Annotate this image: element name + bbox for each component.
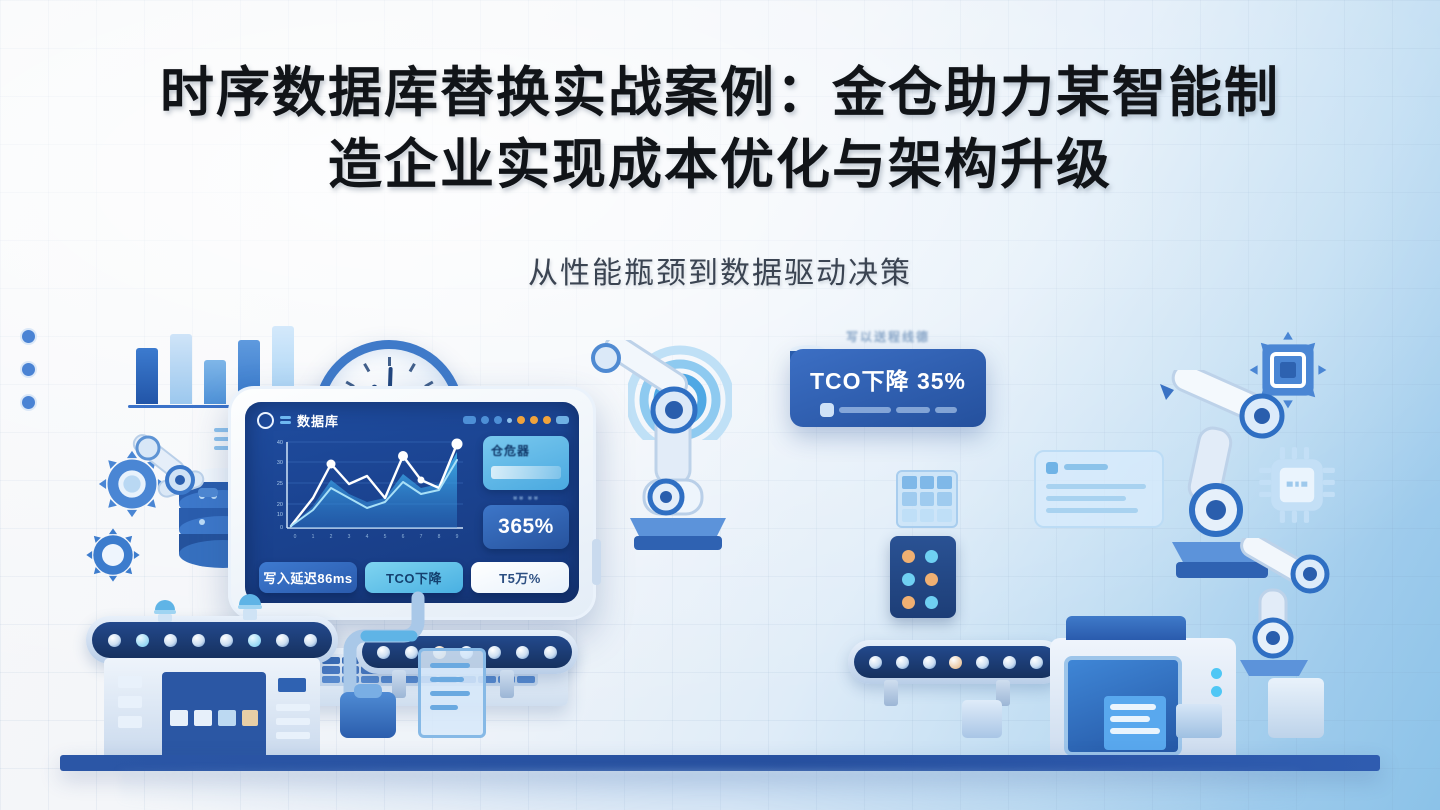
svg-text:3: 3	[348, 534, 351, 540]
grid-panel-icon	[896, 470, 958, 528]
valve-icon	[340, 692, 396, 738]
svg-text:7: 7	[420, 534, 423, 540]
svg-text:5: 5	[384, 534, 387, 540]
svg-text:9: 9	[456, 534, 459, 540]
worker-icon	[236, 588, 264, 620]
indicator-panel	[890, 536, 956, 618]
side-card-title: 仓危器	[491, 442, 561, 459]
callout-ghost-label: 写以送程线德	[790, 328, 986, 345]
tco-callout: 写以送程线德 TCO下降 35%	[790, 328, 986, 427]
svg-text:20: 20	[277, 502, 283, 508]
dashboard-monitor[interactable]: 数据库	[228, 386, 596, 620]
svg-text:25: 25	[277, 481, 283, 487]
percent-card: 365%	[483, 505, 569, 549]
factory-building-icon	[104, 658, 320, 762]
conveyor-belt-icon	[848, 640, 1064, 684]
crate-icon	[1176, 704, 1222, 738]
crate-icon	[962, 700, 1002, 738]
side-card-sub	[491, 466, 561, 479]
metric-button-savings[interactable]: T5万%	[471, 562, 569, 593]
slide-root: 时序数据库替换实战案例：金仓助力某智能制 造企业实现成本优化与架构升级 从性能瓶…	[0, 0, 1440, 810]
svg-text:40: 40	[277, 440, 283, 446]
page-subtitle: 从性能瓶颈到数据驱动决策	[0, 248, 1440, 292]
hero-illustration: 数据库	[0, 300, 1440, 810]
svg-text:30: 30	[277, 460, 283, 466]
svg-text:2: 2	[330, 534, 333, 540]
robot-arm-icon	[590, 340, 770, 550]
conveyor-leg	[884, 680, 898, 706]
floor-strip	[60, 755, 1380, 771]
floor-glow	[120, 770, 1300, 810]
server-rack-icon	[1050, 638, 1236, 766]
svg-text:4: 4	[366, 534, 369, 540]
dashboard-screen: 数据库	[245, 402, 579, 603]
screen-side-cards: 仓危器 ※※ ※※ 365%	[483, 436, 569, 549]
callout-title: TCO下降 35%	[800, 362, 976, 396]
metric-button-tco[interactable]: TCO下降	[365, 562, 463, 593]
svg-text:6: 6	[402, 534, 405, 540]
svg-text:0: 0	[280, 525, 283, 531]
svg-text:1: 1	[312, 534, 315, 540]
svg-text:8: 8	[438, 534, 441, 540]
screen-title: 数据库	[297, 411, 339, 430]
screen-line-chart: 4030 2520 100 012 345 678 9	[259, 436, 467, 548]
callout-box: TCO下降 35%	[790, 349, 986, 427]
svg-text:0: 0	[294, 534, 297, 540]
status-indicators	[463, 416, 569, 424]
svg-text:10: 10	[277, 512, 283, 518]
screen-metric-buttons: 写入延迟86ms TCO下降 T5万%	[259, 562, 569, 593]
bullet-dots	[20, 328, 37, 427]
crate-icon	[1268, 678, 1324, 738]
page-title: 时序数据库替换实战案例：金仓助力某智能制 造企业实现成本优化与架构升级	[0, 58, 1440, 202]
mini-label: ※※ ※※	[483, 495, 569, 502]
percent-value: 365%	[498, 515, 554, 539]
document-panel-icon	[418, 648, 486, 738]
robot-arm-icon	[118, 428, 228, 538]
conveyor-leg	[500, 670, 514, 698]
circle-logo-icon	[257, 412, 274, 429]
metric-button-latency[interactable]: 写入延迟86ms	[259, 562, 357, 593]
side-card-top: 仓危器	[483, 436, 569, 490]
conveyor-belt-icon	[86, 616, 338, 664]
bars-logo-icon	[280, 416, 291, 424]
screen-header: 数据库	[257, 410, 569, 430]
worker-icon	[152, 594, 178, 622]
robot-arm-icon	[1218, 538, 1338, 688]
callout-footnote	[800, 403, 976, 417]
